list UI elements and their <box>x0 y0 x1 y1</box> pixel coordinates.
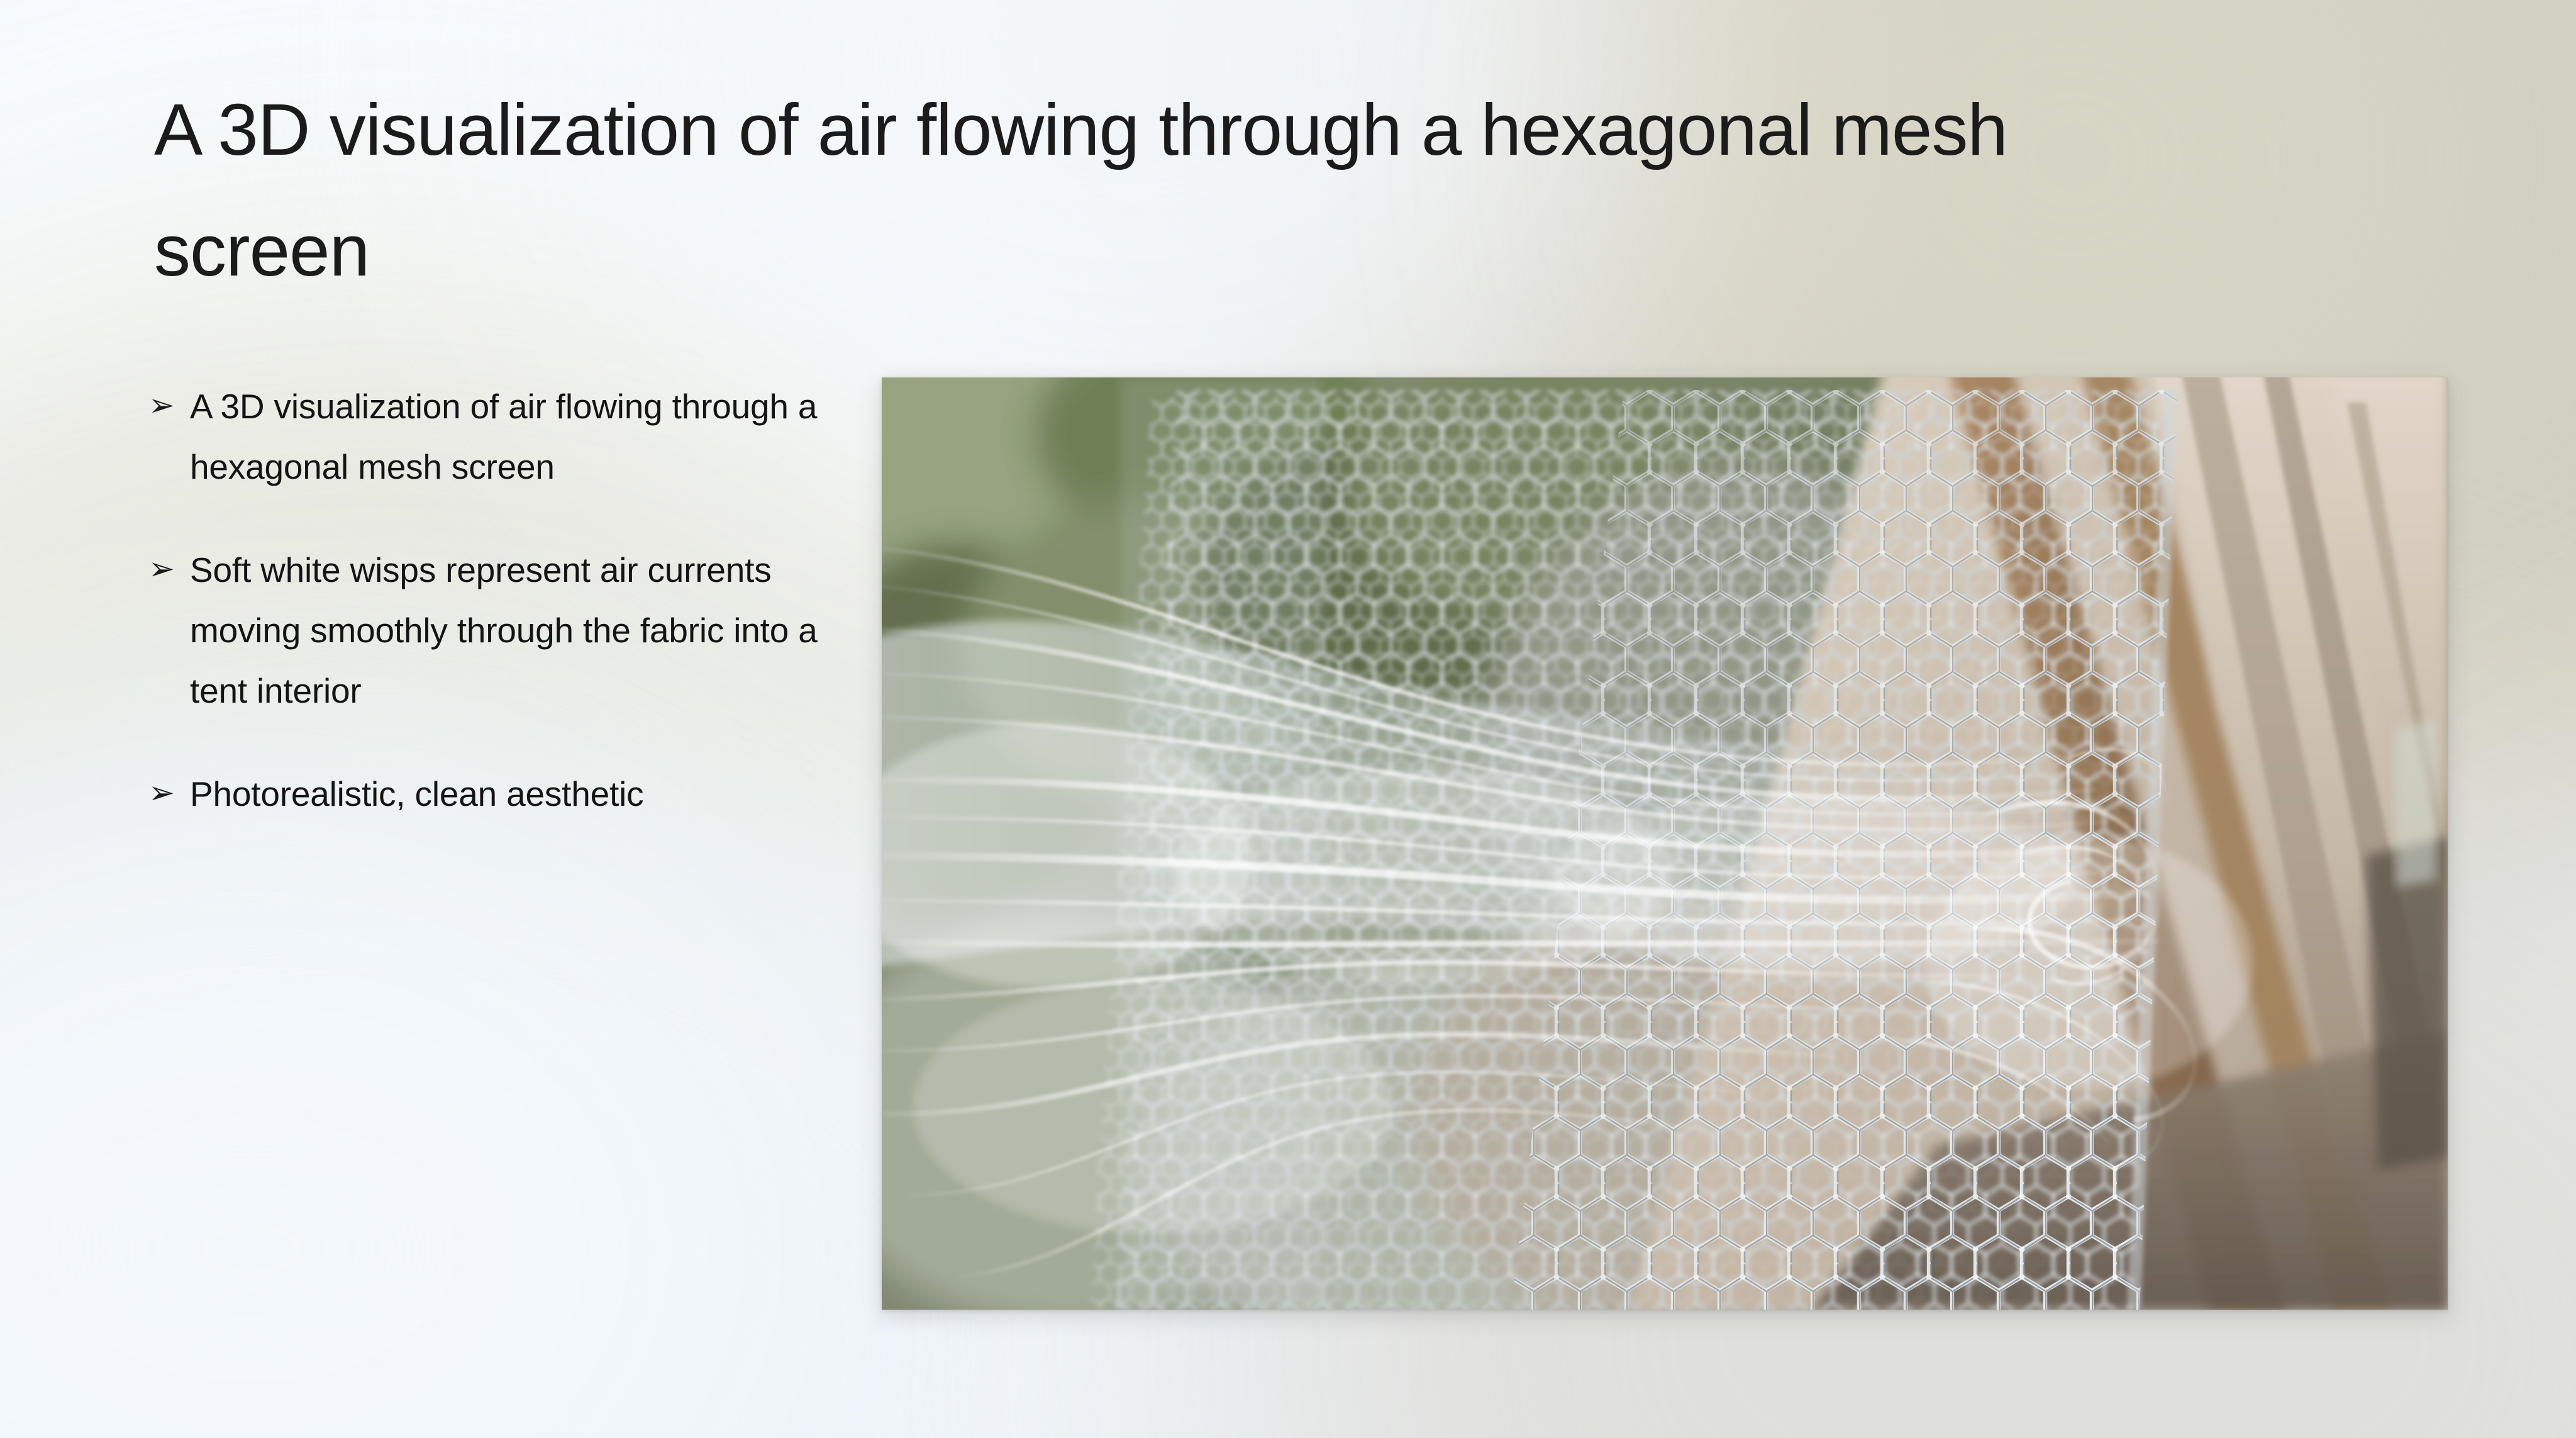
list-item-label: Photorealistic, clean aesthetic <box>190 764 847 824</box>
chevron-bullet-icon: ➢ <box>148 375 190 435</box>
slide-photo <box>882 377 2448 1310</box>
list-item: ➢ Soft white wisps represent air current… <box>148 540 847 721</box>
photo-illustration <box>882 377 2448 1310</box>
chevron-bullet-icon: ➢ <box>148 538 190 599</box>
bullet-list: ➢ A 3D visualization of air flowing thro… <box>148 376 847 824</box>
slide-canvas: A 3D visualization of air flowing throug… <box>0 0 2576 1438</box>
page-title: A 3D visualization of air flowing throug… <box>154 69 2229 311</box>
list-item: ➢ A 3D visualization of air flowing thro… <box>148 376 847 497</box>
chevron-bullet-icon: ➢ <box>148 762 190 823</box>
list-item-label: A 3D visualization of air flowing throug… <box>190 376 847 497</box>
list-item-label: Soft white wisps represent air currents … <box>190 540 847 721</box>
list-item: ➢ Photorealistic, clean aesthetic <box>148 764 847 824</box>
